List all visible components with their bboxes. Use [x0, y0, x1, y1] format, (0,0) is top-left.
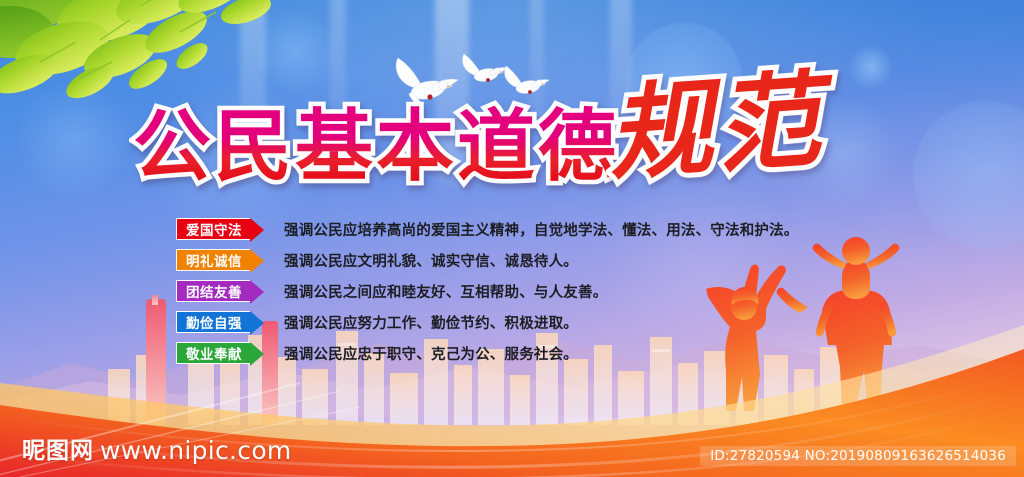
- virtue-tag-label: 明礼诚信: [186, 250, 242, 270]
- virtue-tag-label: 勤俭自强: [186, 312, 242, 332]
- virtue-tag[interactable]: 爱国守法: [176, 218, 250, 240]
- virtue-tag[interactable]: 明礼诚信: [176, 249, 250, 271]
- image-id-label: ID:27820594 NO:20190809163626514036: [700, 446, 1016, 466]
- virtue-description: 强调公民应培养高尚的爱国主义精神，自觉地学法、懂法、用法、守法和护法。: [284, 219, 799, 240]
- calligraphy-title: 规范: [604, 65, 827, 190]
- list-item: 明礼诚信 强调公民应文明礼貌、诚实守信、诚恳待人。: [176, 245, 876, 275]
- tag-arrow-outline: [250, 247, 266, 275]
- list-item: 爱国守法 强调公民应培养高尚的爱国主义精神，自觉地学法、懂法、用法、守法和护法。: [176, 214, 876, 244]
- watermark: 昵图网 www.nipic.com: [22, 431, 292, 465]
- virtue-tag-label: 爱国守法: [186, 219, 242, 239]
- virtue-tag-label: 敬业奉献: [186, 343, 242, 363]
- watermark-brand: 昵图网: [22, 431, 94, 465]
- virtue-tag-label: 团结友善: [186, 281, 242, 301]
- dove-icon: [500, 62, 552, 102]
- virtue-tag[interactable]: 敬业奉献: [176, 342, 250, 364]
- virtue-description: 强调公民应文明礼貌、诚实守信、诚恳待人。: [284, 250, 578, 271]
- virtue-tag[interactable]: 团结友善: [176, 280, 250, 302]
- poster-canvas: 公民基本道德 公民基本道德 规范 规范: [0, 0, 1024, 477]
- page-title: 公民基本道德: [133, 106, 619, 188]
- virtue-tag[interactable]: 勤俭自强: [176, 311, 250, 333]
- tag-arrow-outline: [250, 216, 266, 244]
- watermark-url: www.nipic.com: [100, 436, 292, 465]
- bokeh-circle: [848, 44, 894, 90]
